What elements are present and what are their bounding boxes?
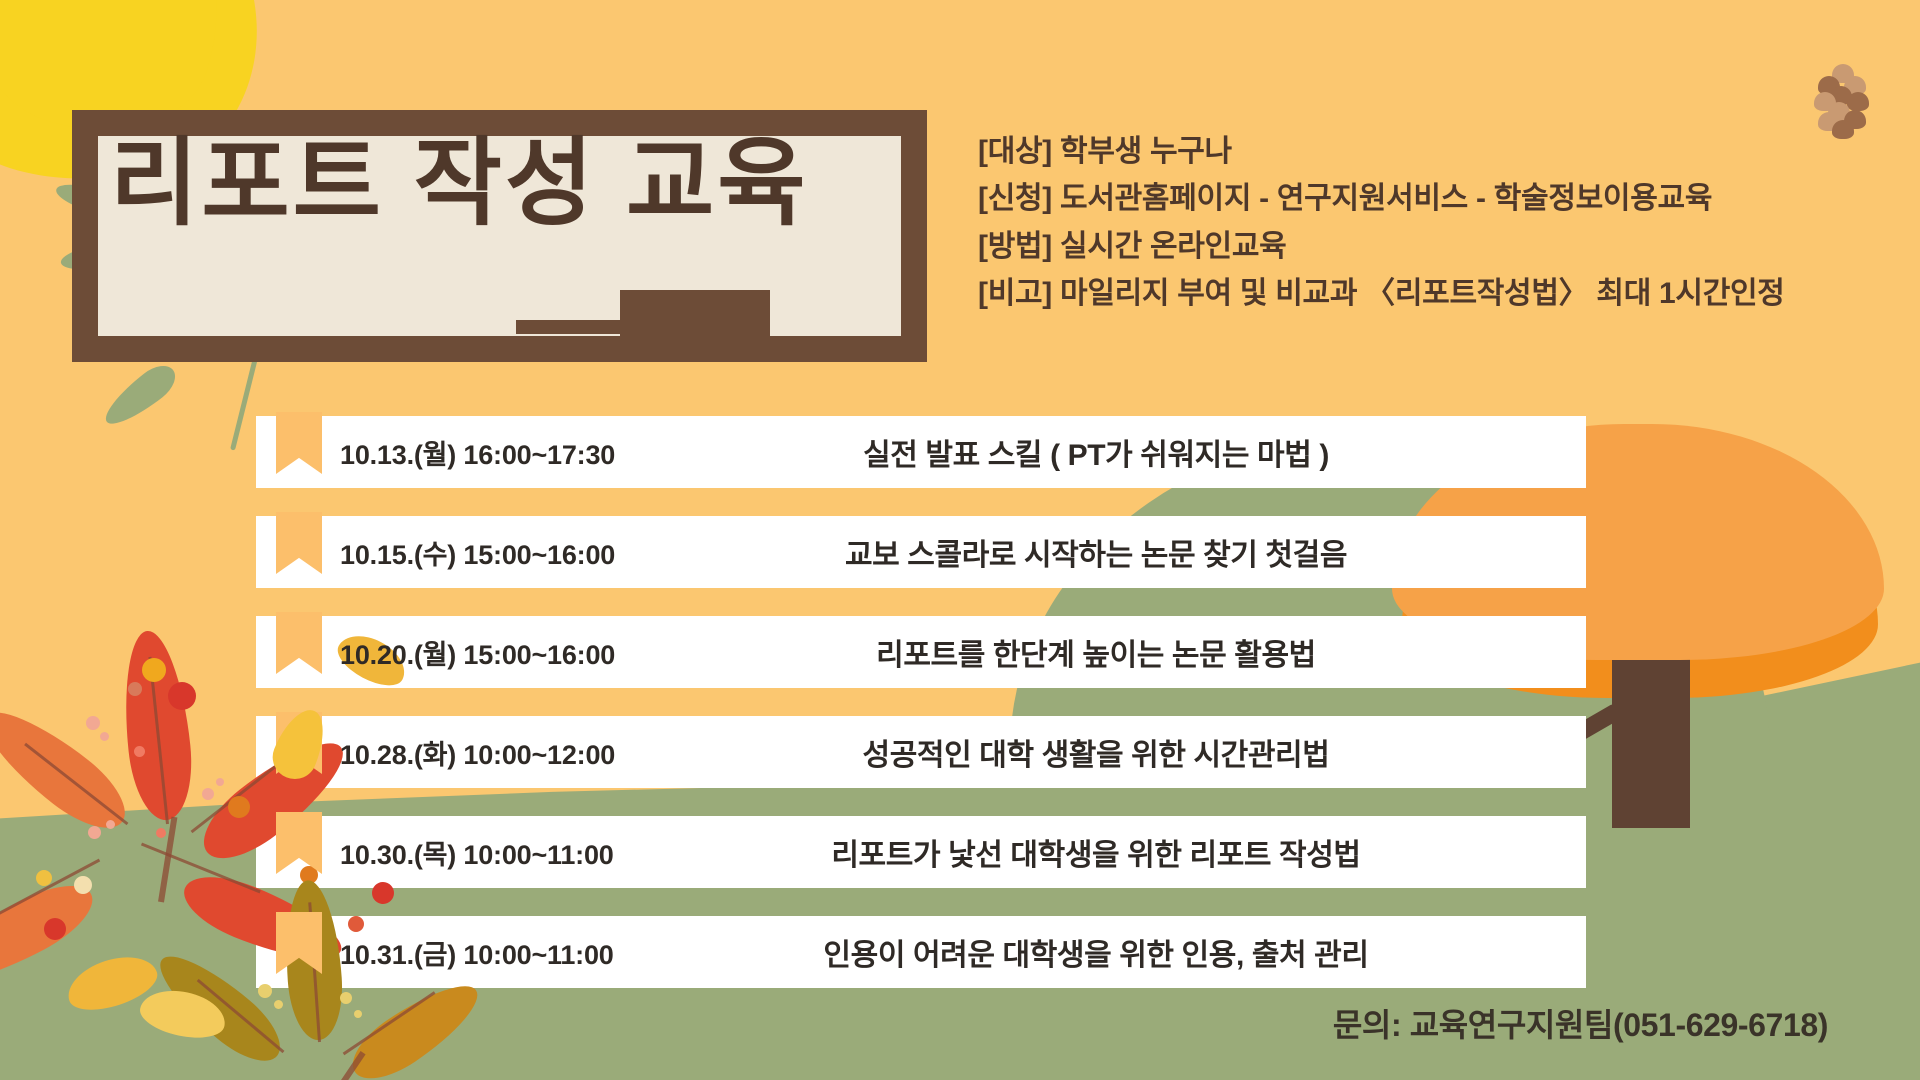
info-line-remark: [비고] 마일리지 부여 및 비교과 〈리포트작성법〉 최대 1시간인정 <box>978 270 1898 317</box>
olive-maple-leaf <box>200 880 450 1080</box>
maple-dot-2 <box>100 732 109 741</box>
schedule-row-date: 10.20.(월) 15:00~16:00 <box>256 633 696 672</box>
schedule-row[interactable]: 10.15.(수) 15:00~16:00 교보 스콜라로 시작하는 논문 찾기… <box>256 516 1586 588</box>
confetti-dot-cream <box>74 876 92 894</box>
olive-dot-2 <box>274 1000 283 1009</box>
schedule-row-title: 실전 발표 스킬 ( PT가 쉬워지는 마법 ) <box>696 430 1586 474</box>
schedule-row[interactable]: 10.31.(금) 10:00~11:00 인용이 어려운 대학생을 위한 인용… <box>256 916 1586 988</box>
schedule-row[interactable]: 10.13.(월) 16:00~17:30 실전 발표 스킬 ( PT가 쉬워지… <box>256 416 1586 488</box>
info-line-apply: [신청] 도서관홈페이지 - 연구지원서비스 - 학술정보이용교육 <box>978 175 1898 222</box>
olive-dot-4 <box>354 1010 362 1018</box>
schedule-row-title: 성공적인 대학 생활을 위한 시간관리법 <box>696 730 1586 774</box>
schedule-row[interactable]: 10.28.(화) 10:00~12:00 성공적인 대학 생활을 위한 시간관… <box>256 716 1586 788</box>
schedule-row[interactable]: 10.20.(월) 15:00~16:00 리포트를 한단계 높이는 논문 활용… <box>256 616 1586 688</box>
title-frame-notch <box>620 290 770 362</box>
maple-dot-8 <box>156 828 166 838</box>
confetti-dot-gold <box>36 870 52 886</box>
poster-canvas: 리포트 작성 교육 [대상] 학부생 누구나 [신청] 도서관홈페이지 - 연구… <box>0 0 1920 1080</box>
info-block: [대상] 학부생 누구나 [신청] 도서관홈페이지 - 연구지원서비스 - 학술… <box>978 128 1898 318</box>
schedule-row-date: 10.31.(금) 10:00~11:00 <box>256 933 696 972</box>
olive-dot-1 <box>258 984 272 998</box>
schedule-row-date: 10.13.(월) 16:00~17:30 <box>256 433 696 472</box>
title-frame-notch-bar <box>516 320 628 334</box>
olive-dot-3 <box>340 992 352 1004</box>
pinecone-icon <box>1814 64 1874 138</box>
branch-leaf-8 <box>98 358 183 433</box>
confetti-dot-red <box>168 682 196 710</box>
page-title: 리포트 작성 교육 <box>110 136 890 232</box>
confetti-dot-yellow <box>142 658 166 682</box>
schedule-row-title: 리포트를 한단계 높이는 논문 활용법 <box>696 630 1586 674</box>
schedule-row-title: 인용이 어려운 대학생을 위한 인용, 출처 관리 <box>696 930 1586 974</box>
maple-dot-7 <box>106 820 115 829</box>
confetti-dot-red-2 <box>44 918 66 940</box>
maple-dot-4 <box>202 788 214 800</box>
confetti-dot-orange <box>228 796 250 818</box>
schedule-row-date: 10.30.(목) 10:00~11:00 <box>256 833 696 872</box>
schedule-row-title: 교보 스콜라로 시작하는 논문 찾기 첫걸음 <box>696 530 1586 574</box>
schedule-row-date: 10.28.(화) 10:00~12:00 <box>256 733 696 772</box>
schedule-list: 10.13.(월) 16:00~17:30 실전 발표 스킬 ( PT가 쉬워지… <box>256 416 1586 1016</box>
info-line-method: [방법] 실시간 온라인교육 <box>978 223 1898 270</box>
schedule-row[interactable]: 10.30.(목) 10:00~11:00 리포트가 낯선 대학생을 위한 리포… <box>256 816 1586 888</box>
footer-contact: 문의: 교육연구지원팀(051-629-6718) <box>1333 1000 1828 1046</box>
maple-dot-6 <box>88 826 101 839</box>
info-line-target: [대상] 학부생 누구나 <box>978 128 1898 175</box>
confetti-dot-salmon <box>128 682 142 696</box>
schedule-row-title: 리포트가 낯선 대학생을 위한 리포트 작성법 <box>696 830 1586 874</box>
maple-dot-5 <box>216 778 224 786</box>
schedule-row-date: 10.15.(수) 15:00~16:00 <box>256 533 696 572</box>
maple-dot-1 <box>86 716 100 730</box>
maple-dot-3 <box>134 746 145 757</box>
